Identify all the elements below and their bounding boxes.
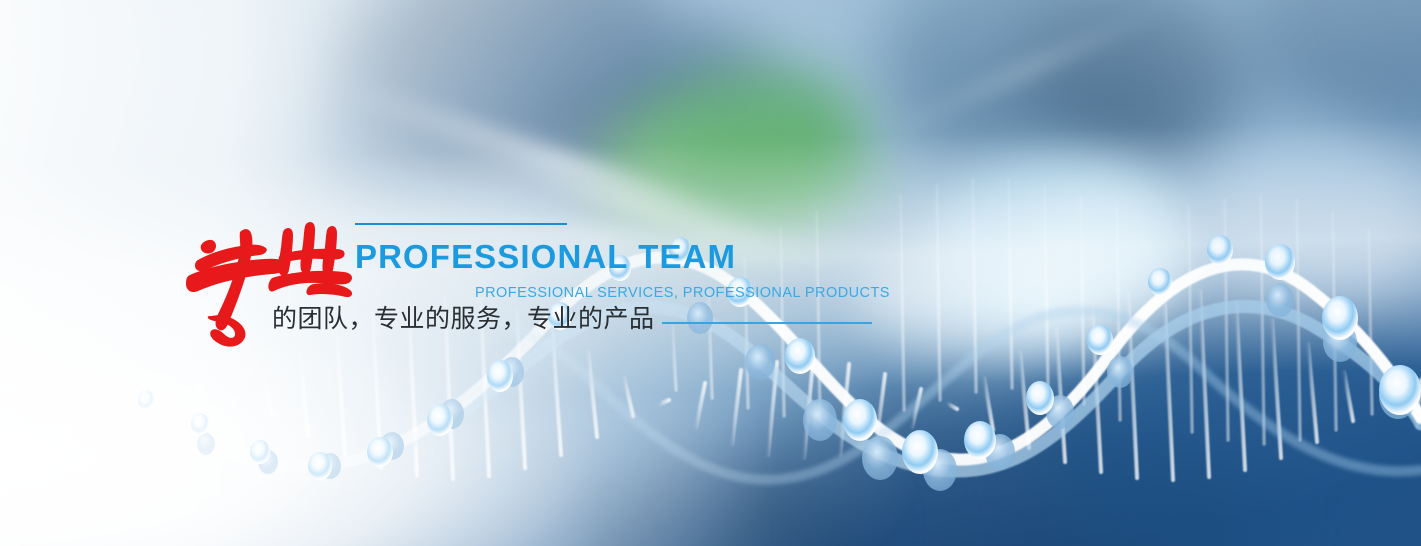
subtitle: PROFESSIONAL SERVICES, PROFESSIONAL PROD… <box>475 286 890 301</box>
divider-rule-top <box>355 223 567 225</box>
divider-rule-bottom <box>662 322 872 324</box>
page-title: PROFESSIONAL TEAM <box>355 240 736 273</box>
banner-text-block: 专业 <box>0 0 1421 546</box>
hero-banner: 专业 <box>0 0 1421 546</box>
chinese-tagline: 的团队，专业的服务，专业的产品 <box>272 305 655 333</box>
